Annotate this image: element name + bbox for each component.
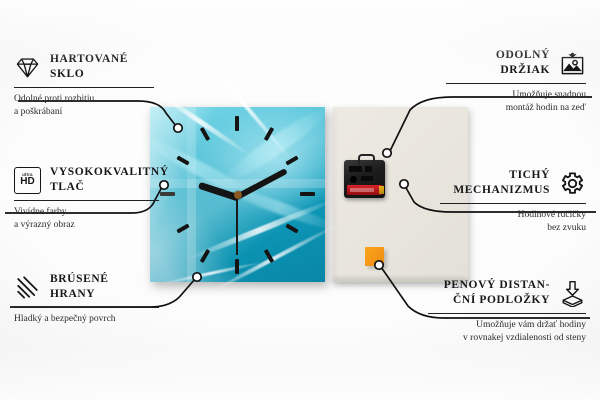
feature-hardened-glass: HARTOVANÉ SKLO Odolné proti rozbitiu a p…	[14, 52, 154, 118]
connector-dot-right-1	[383, 149, 391, 157]
feature-title-line2: SKLO	[50, 68, 84, 80]
feature-head: ODOLNÝ DRŽIAK	[446, 48, 586, 78]
feature-title: HARTOVANÉ SKLO	[50, 52, 128, 82]
feature-desc-line2: v rovnakej vzdialenosti od steny	[463, 333, 586, 343]
feature-desc: Hladký a bezpečný povrch	[14, 313, 159, 326]
feature-title-line2: TLAČ	[50, 181, 84, 193]
feature-desc-line1: Hodinové ručičky	[518, 210, 586, 220]
divider	[440, 203, 586, 204]
feature-desc: Vivídne farby a výrazný obraz	[14, 206, 159, 231]
feature-desc-line1: Umožňuje snadnou	[512, 90, 586, 100]
feature-durable-hanger: ODOLNÝ DRŽIAK Umožňuje snadnou montáž ho…	[446, 48, 586, 114]
feature-silent-mechanism: TICHÝ MECHANIZMUS Hodinové ručičky bez z…	[440, 168, 586, 234]
divider	[446, 83, 586, 84]
feature-title-line1: ODOLNÝ	[496, 49, 550, 61]
feature-desc-line1: Hladký a bezpečný povrch	[14, 314, 116, 324]
feature-title-line1: TICHÝ	[509, 169, 550, 181]
feature-desc-line2: a poškrábaní	[14, 107, 62, 117]
feature-title-line2: MECHANIZMUS	[453, 184, 550, 196]
feature-desc: Hodinové ručičky bez zvuku	[440, 209, 586, 234]
divider	[428, 313, 586, 314]
feature-title: VYSOKOKVALITNÝ TLAČ	[50, 165, 169, 195]
connector-dot-right-3	[375, 261, 383, 269]
divider	[14, 87, 154, 88]
feature-desc: Umožňuje snadnou montáž hodin na zeď	[446, 89, 586, 114]
feature-head: TICHÝ MECHANIZMUS	[440, 168, 586, 198]
connector-dot-left-1	[174, 124, 182, 132]
feature-head: BRÚSENÉ HRANY	[14, 272, 159, 302]
feature-foam-spacers: PENOVÝ DISTAN- ČNÍ PODLOŽKY Umožňuje vám…	[428, 278, 586, 344]
feature-desc-line2: a výrazný obraz	[14, 220, 75, 230]
feature-desc: Umožňuje vám držať hodiny v rovnakej vzd…	[428, 319, 586, 344]
feature-title-line2: HRANY	[50, 288, 95, 300]
divider	[14, 200, 159, 201]
connector-dot-left-3	[193, 273, 201, 281]
feature-head: ultra HD VYSOKOKVALITNÝ TLAČ	[14, 165, 159, 195]
connector-dot-right-2	[400, 180, 408, 188]
feature-head: HARTOVANÉ SKLO	[14, 52, 154, 82]
ultra-hd-big-label: HD	[20, 177, 34, 187]
feature-title: ODOLNÝ DRŽIAK	[496, 48, 550, 78]
feature-high-quality-print: ultra HD VYSOKOKVALITNÝ TLAČ Vivídne far…	[14, 165, 159, 231]
divider	[14, 307, 159, 308]
feature-desc: Odolné proti rozbitiu a poškrábaní	[14, 93, 154, 118]
feature-title-line1: PENOVÝ DISTAN-	[444, 279, 550, 291]
feature-desc-line1: Odolné proti rozbitiu	[14, 94, 94, 104]
feature-title-line1: BRÚSENÉ	[50, 273, 109, 285]
gear-icon	[559, 170, 586, 197]
feature-bevelled-edges: BRÚSENÉ HRANY Hladký a bezpečný povrch	[14, 272, 159, 326]
feature-desc-line2: montáž hodin na zeď	[506, 103, 586, 113]
feature-title: BRÚSENÉ HRANY	[50, 272, 109, 302]
ultra-hd-icon: ultra HD	[14, 167, 41, 194]
feature-desc-line2: bez zvuku	[547, 223, 586, 233]
feature-desc-line1: Umožňuje vám držať hodiny	[476, 320, 586, 330]
feature-title-line1: VYSOKOKVALITNÝ	[50, 166, 169, 178]
picture-hanger-icon	[559, 50, 586, 77]
foam-spacer-icon	[559, 280, 586, 307]
feature-desc-line1: Vivídne farby	[14, 207, 66, 217]
feature-title-line2: DRŽIAK	[500, 64, 550, 76]
feature-title-line2: ČNÍ PODLOŽKY	[453, 294, 550, 306]
feature-title: PENOVÝ DISTAN- ČNÍ PODLOŽKY	[444, 278, 550, 308]
feature-title: TICHÝ MECHANIZMUS	[453, 168, 550, 198]
product-infographic: HARTOVANÉ SKLO Odolné proti rozbitiu a p…	[0, 0, 600, 400]
feature-title-line1: HARTOVANÉ	[50, 53, 128, 65]
diamond-icon	[14, 54, 41, 81]
feature-head: PENOVÝ DISTAN- ČNÍ PODLOŽKY	[428, 278, 586, 308]
bevelled-edges-icon	[14, 274, 41, 301]
